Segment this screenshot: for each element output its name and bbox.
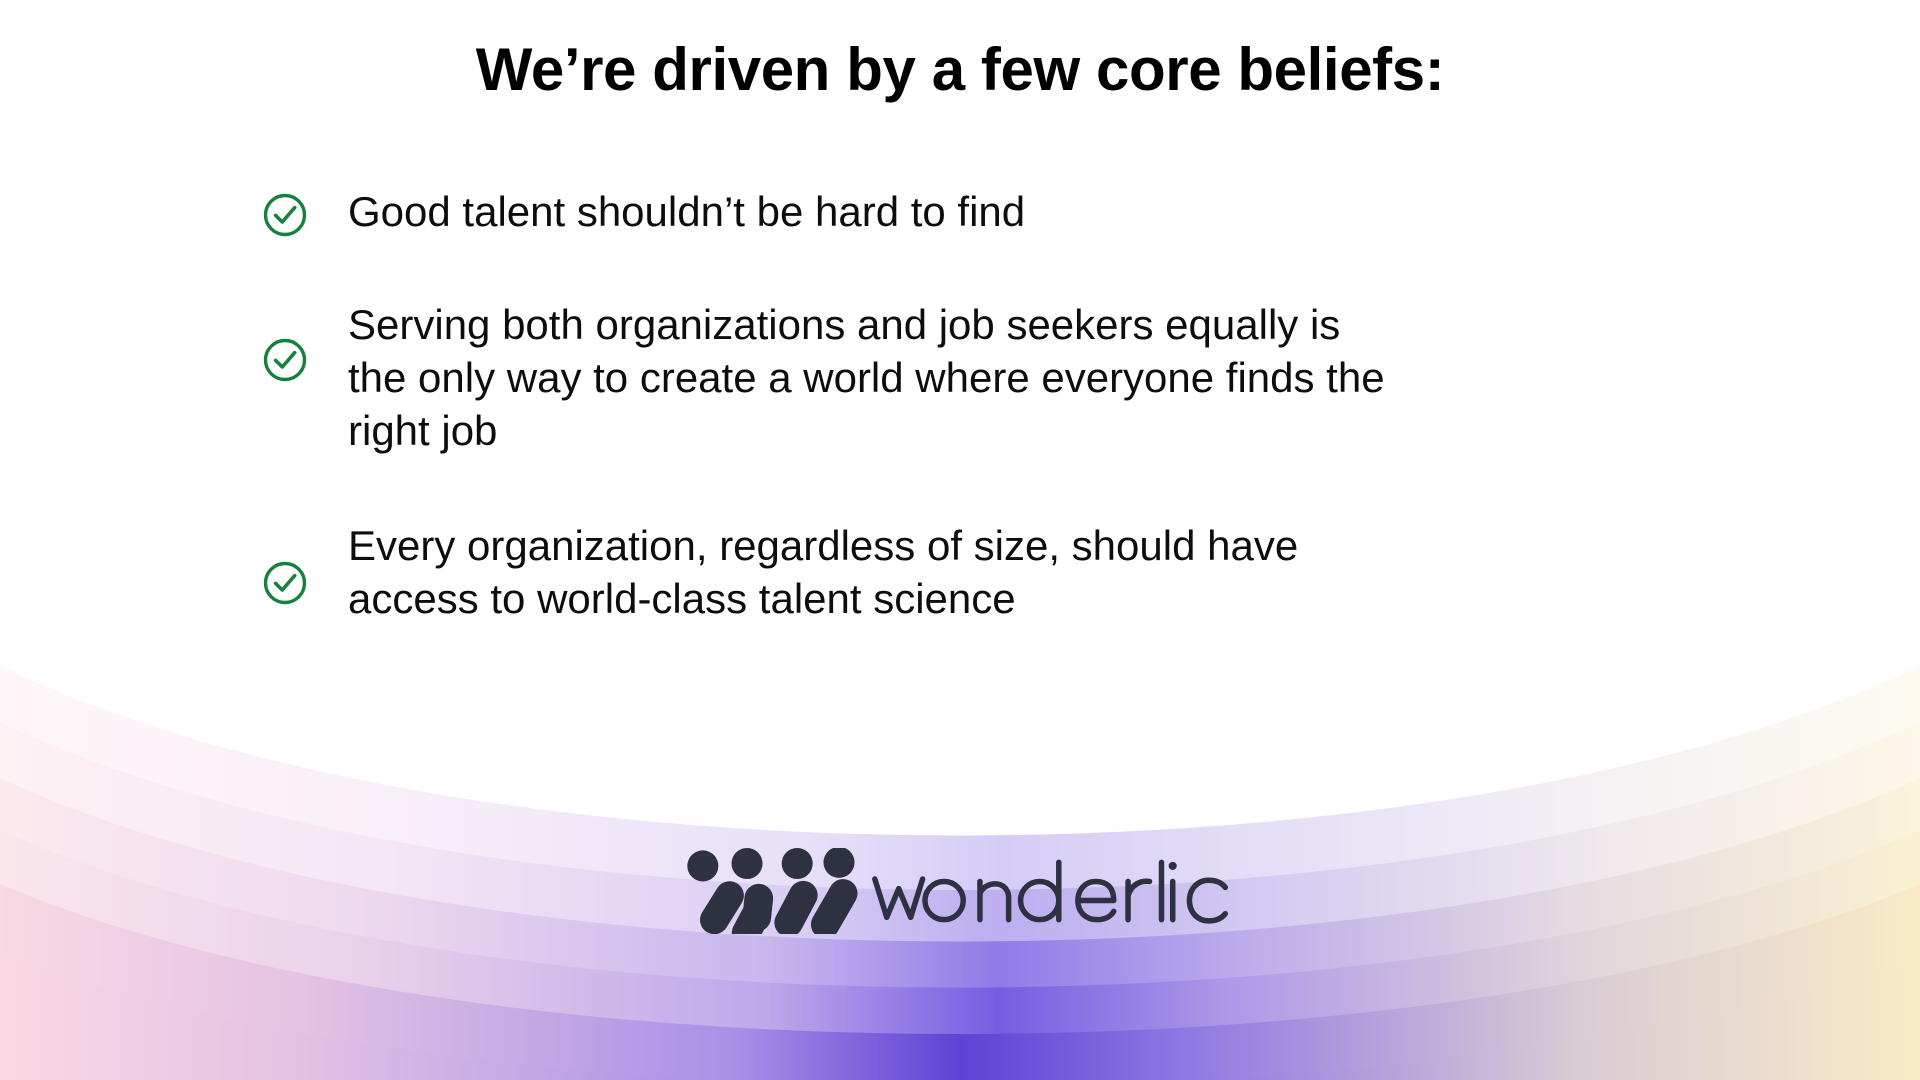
wonderlic-wordmark-ic bbox=[1173, 880, 1226, 921]
wonderlic-mark-icon bbox=[687, 848, 862, 934]
wonderlic-i-dot bbox=[1169, 862, 1177, 870]
list-item: Every organization, regardless of size, … bbox=[262, 520, 1642, 626]
check-circle-icon bbox=[262, 337, 308, 383]
check-circle-icon bbox=[262, 192, 308, 238]
list-item: Serving both organizations and job seeke… bbox=[262, 299, 1642, 458]
list-item: Good talent shouldn’t be hard to find bbox=[262, 186, 1642, 239]
wonderlic-wordmark bbox=[875, 862, 1150, 919]
check-circle-icon bbox=[262, 560, 308, 606]
page-title: We’re driven by a few core beliefs: bbox=[0, 38, 1920, 101]
slide-canvas: We’re driven by a few core beliefs: Good… bbox=[0, 0, 1920, 1080]
wonderlic-logo bbox=[685, 848, 1235, 934]
beliefs-list: Good talent shouldn’t be hard to find Se… bbox=[262, 186, 1642, 625]
list-item-label: Every organization, regardless of size, … bbox=[348, 520, 1398, 626]
list-item-label: Serving both organizations and job seeke… bbox=[348, 299, 1398, 458]
list-item-label: Good talent shouldn’t be hard to find bbox=[348, 186, 1398, 239]
